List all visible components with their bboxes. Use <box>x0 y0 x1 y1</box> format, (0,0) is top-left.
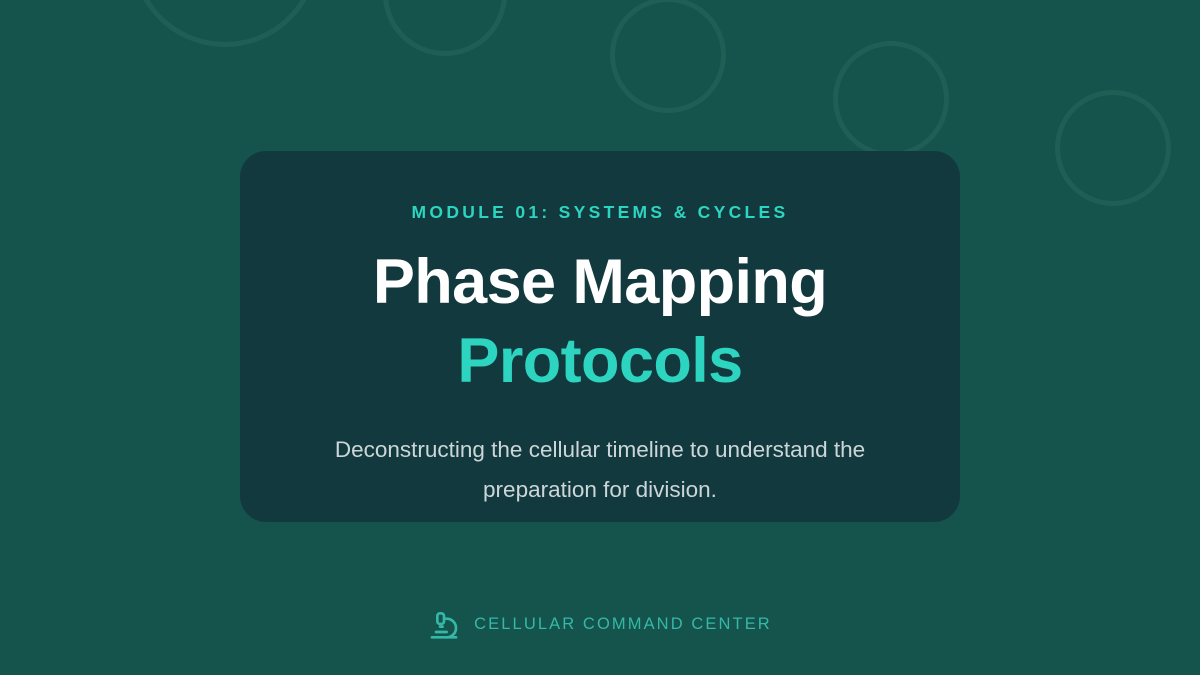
subtitle-text: Deconstructing the cellular timeline to … <box>296 430 904 510</box>
title-line-primary: Phase Mapping <box>296 243 904 322</box>
microscope-icon <box>428 608 460 640</box>
footer-label: CELLULAR COMMAND CENTER <box>474 616 772 633</box>
decor-circle <box>833 41 949 157</box>
footer-branding: CELLULAR COMMAND CENTER <box>0 608 1200 640</box>
module-eyebrow-label: MODULE 01: SYSTEMS & CYCLES <box>412 204 789 222</box>
title-card: MODULE 01: SYSTEMS & CYCLES Phase Mappin… <box>240 151 960 522</box>
decor-circle <box>610 0 726 113</box>
page-title: Phase Mapping Protocols <box>296 243 904 402</box>
slide-root: MODULE 01: SYSTEMS & CYCLES Phase Mappin… <box>0 0 1200 675</box>
decor-circle <box>131 0 319 47</box>
decor-circle <box>1055 90 1171 206</box>
title-line-accent: Protocols <box>296 322 904 401</box>
decor-circle <box>383 0 507 56</box>
